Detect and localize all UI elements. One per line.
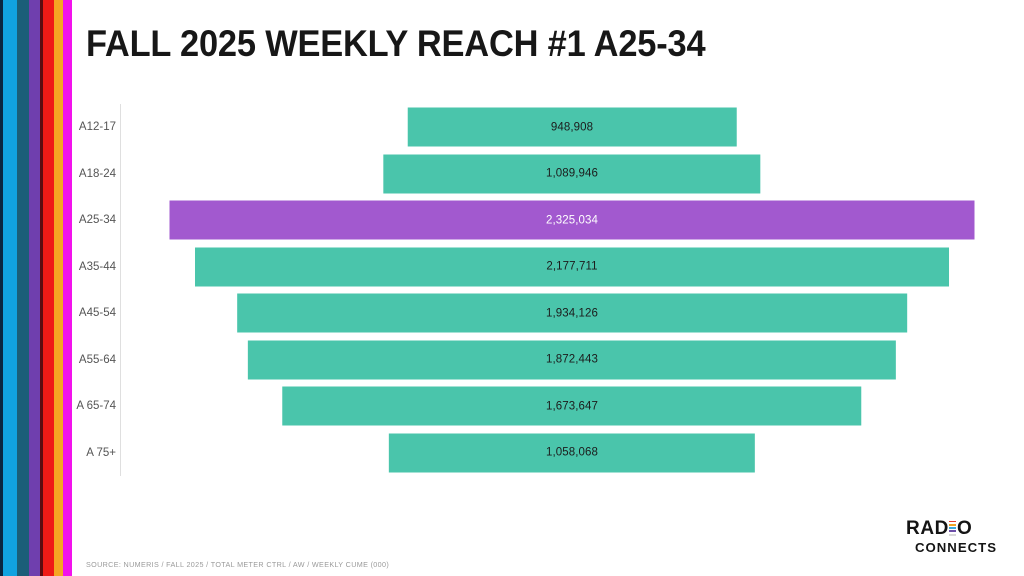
- bar-track: 1,934,126: [120, 290, 1024, 337]
- logo-bar-segment: [949, 524, 956, 526]
- bar-a55-64[interactable]: 1,872,443: [248, 340, 896, 379]
- bar-a25-34[interactable]: 2,325,034: [170, 201, 975, 240]
- category-label: A55-64: [60, 354, 116, 366]
- stripe-magenta: [63, 0, 72, 576]
- stripe-cyan-blue: [3, 0, 17, 576]
- logo-bar-segment: [949, 521, 956, 523]
- funnel-bar-chart: A12-17948,908A18-241,089,946A25-342,325,…: [72, 104, 1024, 476]
- slide-body: FALL 2025 WEEKLY REACH #1 A25-34 A12-179…: [72, 0, 1024, 576]
- source-note: SOURCE: NUMERIS / FALL 2025 / TOTAL METE…: [86, 560, 389, 569]
- bar-track: 1,058,068: [120, 430, 1024, 477]
- logo-stacked-bars-icon: [949, 521, 956, 536]
- bar-track: 2,177,711: [120, 244, 1024, 291]
- category-label: A35-44: [60, 261, 116, 273]
- chart-row: A 65-741,673,647: [72, 383, 1024, 430]
- bar-a75+[interactable]: 1,058,068: [389, 433, 755, 472]
- bar-value-label: 1,673,647: [546, 400, 598, 412]
- category-label: A12-17: [60, 121, 116, 133]
- logo-wordmark-connects: CONNECTS: [906, 541, 1006, 554]
- bar-value-label: 1,934,126: [546, 307, 598, 319]
- category-label: A18-24: [60, 168, 116, 180]
- bar-value-label: 1,089,946: [546, 168, 598, 180]
- bar-track: 1,673,647: [120, 383, 1024, 430]
- chart-row: A25-342,325,034: [72, 197, 1024, 244]
- decorative-stripe-bar: [0, 0, 72, 576]
- bar-value-label: 2,177,711: [546, 261, 597, 273]
- logo-text-o: O: [957, 519, 972, 538]
- stripe-purple: [29, 0, 40, 576]
- chart-row: A45-541,934,126: [72, 290, 1024, 337]
- bar-track: 1,089,946: [120, 151, 1024, 198]
- bar-a12-17[interactable]: 948,908: [408, 108, 737, 147]
- logo-bar-segment: [949, 534, 956, 536]
- chart-row: A18-241,089,946: [72, 151, 1024, 198]
- stripe-red: [43, 0, 54, 576]
- page-title: FALL 2025 WEEKLY REACH #1 A25-34: [86, 23, 705, 65]
- category-label: A25-34: [60, 214, 116, 226]
- logo-text-rad: RAD: [906, 519, 949, 538]
- logo-bar-segment: [949, 530, 956, 532]
- stripe-dark-teal: [17, 0, 29, 576]
- stripe-orange: [54, 0, 63, 576]
- logo-bar-segment: [949, 527, 956, 529]
- bar-a45-54[interactable]: 1,934,126: [237, 294, 907, 333]
- chart-row: A 75+1,058,068: [72, 430, 1024, 477]
- bar-a65-74[interactable]: 1,673,647: [282, 387, 861, 426]
- chart-row: A35-442,177,711: [72, 244, 1024, 291]
- bar-track: 948,908: [120, 104, 1024, 151]
- category-label: A45-54: [60, 307, 116, 319]
- chart-row: A12-17948,908: [72, 104, 1024, 151]
- chart-row: A55-641,872,443: [72, 337, 1024, 384]
- bar-value-label: 1,058,068: [546, 447, 598, 459]
- bar-value-label: 2,325,034: [546, 214, 598, 226]
- radio-connects-logo: RAD O CONNECTS: [906, 519, 1006, 559]
- bar-value-label: 1,872,443: [546, 354, 598, 366]
- bar-a18-24[interactable]: 1,089,946: [383, 154, 760, 193]
- bar-track: 1,872,443: [120, 337, 1024, 384]
- bar-value-label: 948,908: [551, 121, 593, 133]
- bar-track: 2,325,034: [120, 197, 1024, 244]
- category-label: A 65-74: [60, 400, 116, 412]
- bar-a35-44[interactable]: 2,177,711: [195, 247, 949, 286]
- category-label: A 75+: [60, 447, 116, 459]
- chart-rows: A12-17948,908A18-241,089,946A25-342,325,…: [72, 104, 1024, 476]
- logo-wordmark-radio: RAD O: [906, 519, 1006, 538]
